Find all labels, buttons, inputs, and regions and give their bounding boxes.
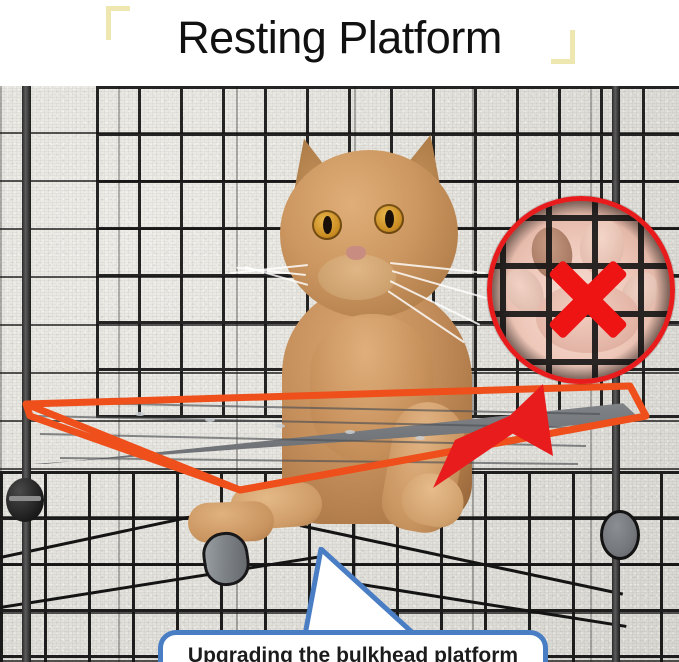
x-mark-icon (542, 253, 634, 345)
callout-line-1: Upgrading the bulkhead platform (163, 641, 543, 662)
callout-box: Upgrading the bulkhead platform won't hu… (158, 630, 548, 662)
cat-paw-front-2 (187, 501, 274, 544)
callout-tail (297, 547, 427, 637)
product-feature-image: Resting Platform (0, 0, 679, 662)
cat-muzzle (318, 254, 396, 300)
cage-post-left (22, 86, 31, 662)
pointer-arrow-icon (425, 378, 555, 508)
cat-nose (346, 246, 366, 260)
paw-closeup-inset (487, 196, 675, 384)
product-photo: Upgrading the bulkhead platform won't hu… (0, 86, 679, 662)
cat-pupil-left (323, 216, 332, 234)
cat-pupil-right (385, 210, 394, 228)
corner-bracket-right-icon (551, 30, 575, 64)
title-band: Resting Platform (0, 0, 679, 86)
page-title: Resting Platform (0, 8, 679, 68)
